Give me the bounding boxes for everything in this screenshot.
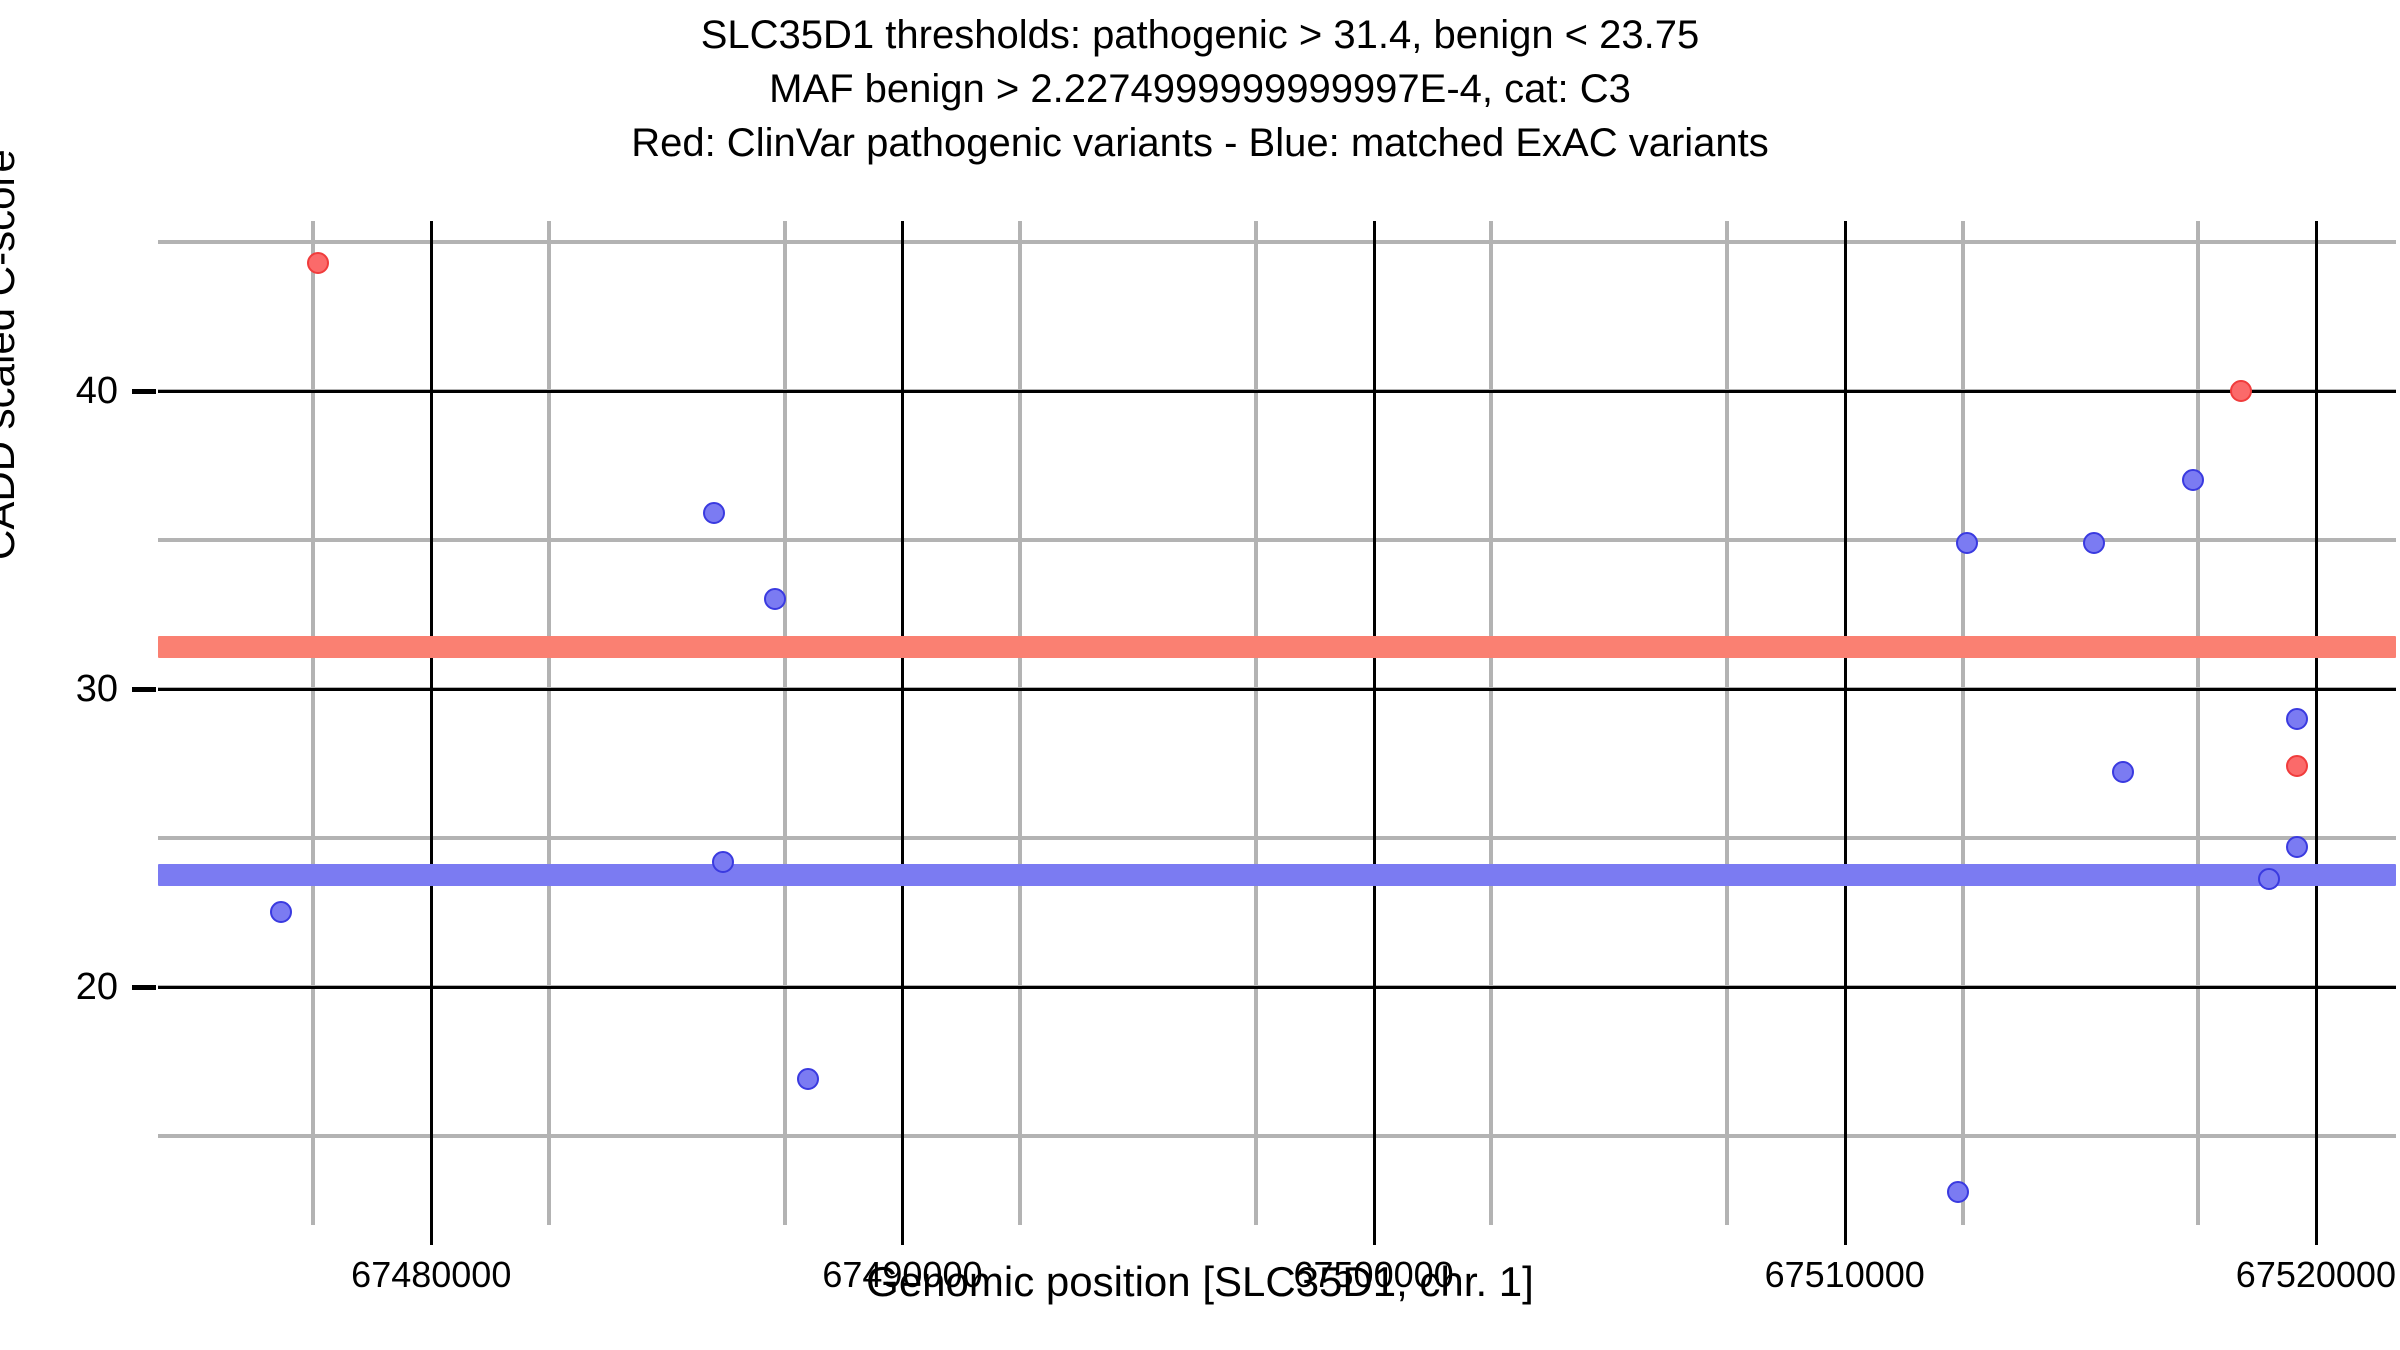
plot-area — [158, 221, 2396, 1225]
axis-line-horizontal — [158, 986, 2396, 989]
data-point-exac[interactable] — [1956, 532, 1978, 554]
data-point-exac[interactable] — [2112, 761, 2134, 783]
gridline-horizontal — [158, 538, 2396, 542]
x-tick-mark — [430, 1225, 433, 1245]
gridline-horizontal — [158, 836, 2396, 840]
gridline-vertical — [1725, 221, 1729, 1225]
gridline-vertical — [783, 221, 787, 1225]
axis-line-horizontal — [158, 390, 2396, 393]
data-point-exac[interactable] — [2286, 708, 2308, 730]
axis-line-vertical — [1844, 221, 1847, 1225]
y-tick-label: 20 — [0, 968, 118, 1006]
gridline-vertical — [547, 221, 551, 1225]
chart-title-line-2: MAF benign > 2.2274999999999997E-4, cat:… — [0, 62, 2400, 116]
y-tick-mark — [132, 687, 156, 692]
axis-line-vertical — [2315, 221, 2318, 1225]
chart-page: SLC35D1 thresholds: pathogenic > 31.4, b… — [0, 0, 2400, 1350]
x-tick-mark — [901, 1225, 904, 1245]
gridline-horizontal — [158, 240, 2396, 244]
threshold-line-benign — [158, 864, 2396, 886]
y-tick-mark — [132, 985, 156, 990]
data-point-exac[interactable] — [1947, 1181, 1969, 1203]
y-tick-label: 30 — [0, 670, 118, 708]
chart-legend-note: Red: ClinVar pathogenic variants - Blue:… — [0, 116, 2400, 170]
gridline-vertical — [1489, 221, 1493, 1225]
y-axis-label: CADD scaled C-score — [0, 149, 24, 560]
gridline-vertical — [1254, 221, 1258, 1225]
x-axis-label: Genomic position [SLC35D1, chr. 1] — [0, 1258, 2400, 1306]
x-tick-mark — [2315, 1225, 2318, 1245]
axis-line-vertical — [1373, 221, 1376, 1225]
plot-background — [158, 221, 2396, 1225]
chart-title-block: SLC35D1 thresholds: pathogenic > 31.4, b… — [0, 8, 2400, 170]
axis-line-vertical — [901, 221, 904, 1225]
data-point-exac[interactable] — [712, 851, 734, 873]
threshold-line-pathogenic — [158, 636, 2396, 658]
gridline-horizontal — [158, 1134, 2396, 1138]
x-tick-mark — [1373, 1225, 1376, 1245]
axis-line-vertical — [430, 221, 433, 1225]
gridline-vertical — [311, 221, 315, 1225]
data-point-pathogenic[interactable] — [2230, 380, 2252, 402]
gridline-vertical — [1018, 221, 1022, 1225]
data-point-exac[interactable] — [703, 502, 725, 524]
axis-line-horizontal — [158, 688, 2396, 691]
y-tick-mark — [132, 389, 156, 394]
x-tick-mark — [1844, 1225, 1847, 1245]
gridline-vertical — [1961, 221, 1965, 1225]
data-point-exac[interactable] — [2286, 836, 2308, 858]
data-point-pathogenic[interactable] — [307, 252, 329, 274]
chart-title-line-1: SLC35D1 thresholds: pathogenic > 31.4, b… — [0, 8, 2400, 62]
gridline-vertical — [2196, 221, 2200, 1225]
data-point-exac[interactable] — [270, 901, 292, 923]
